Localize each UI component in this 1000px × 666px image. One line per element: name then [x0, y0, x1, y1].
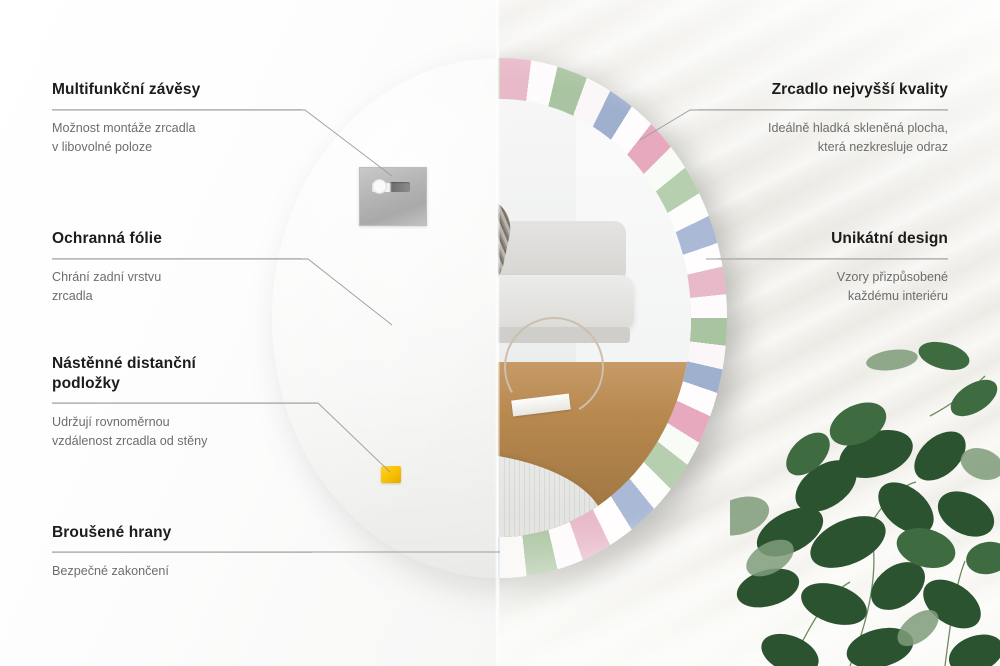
callout-brousene-hrany: Broušené hrany Bezpečné zakončení: [52, 523, 312, 581]
callout-body: Ideálně hladká skleněná plocha, která ne…: [698, 119, 948, 157]
callout-body-line2: vzdálenost zrcadla od stěny: [52, 434, 207, 448]
callout-body-line2: každému interiéru: [848, 289, 948, 303]
callout-rule: [698, 109, 948, 110]
callout-body-line1: Bezpečné zakončení: [52, 564, 169, 578]
callout-title-line2: podložky: [52, 375, 120, 392]
callout-body-line2: v libovolné poloze: [52, 140, 152, 154]
callout-title-line1: Nástěnné distanční: [52, 355, 196, 372]
callout-body: Udržují rovnoměrnou vzdálenost zrcadla o…: [52, 413, 317, 451]
callout-multifunkcni-zavesy: Multifunkční závěsy Možnost montáže zrca…: [52, 80, 302, 157]
foliage-decoration: [730, 336, 1000, 666]
callout-zrcadlo-nejvyssi-kvality: Zrcadlo nejvyšší kvality Ideálně hladká …: [698, 80, 948, 157]
callout-ochranna-folie: Ochranná fólie Chrání zadní vrstvu zrcad…: [52, 229, 302, 306]
callout-unikatni-design: Unikátní design Vzory přizpůsobené každé…: [718, 229, 948, 306]
callout-title: Nástěnné distanční podložky: [52, 354, 317, 394]
callout-nastenne-distancni-podlozky: Nástěnné distanční podložky Udržují rovn…: [52, 354, 317, 451]
callout-rule: [52, 109, 302, 110]
callout-body-line1: Chrání zadní vrstvu: [52, 270, 161, 284]
callout-title: Ochranná fólie: [52, 229, 302, 249]
infographic-canvas: Multifunkční závěsy Možnost montáže zrca…: [0, 0, 1000, 666]
callout-body: Bezpečné zakončení: [52, 562, 312, 581]
mirror-glass-reflection: [497, 99, 691, 537]
callout-rule: [52, 552, 312, 553]
keyhole-slot: [372, 182, 410, 192]
callout-title: Broušené hrany: [52, 523, 312, 543]
callout-body-line1: Ideálně hladká skleněná plocha,: [768, 121, 948, 135]
keyhole-hanger-plate: [359, 167, 427, 226]
panel-seam: [495, 0, 500, 666]
callout-title: Multifunkční závěsy: [52, 80, 302, 100]
callout-body-line1: Možnost montáže zrcadla: [52, 121, 196, 135]
mirror-front-floral-frame: [497, 58, 727, 578]
callout-rule: [718, 258, 948, 259]
callout-title: Zrcadlo nejvyšší kvality: [698, 80, 948, 100]
callout-rule: [52, 403, 317, 404]
callout-body: Možnost montáže zrcadla v libovolné polo…: [52, 119, 302, 157]
callout-body-line2: která nezkresluje odraz: [818, 140, 948, 154]
yellow-spacer-pad: [381, 466, 401, 483]
callout-body: Vzory přizpůsobené každému interiéru: [718, 268, 948, 306]
callout-rule: [52, 258, 302, 259]
callout-body: Chrání zadní vrstvu zrcadla: [52, 268, 302, 306]
callout-body-line2: zrcadla: [52, 289, 93, 303]
callout-title: Unikátní design: [718, 229, 948, 249]
callout-body-line1: Vzory přizpůsobené: [837, 270, 948, 284]
callout-body-line1: Udržují rovnoměrnou: [52, 415, 170, 429]
